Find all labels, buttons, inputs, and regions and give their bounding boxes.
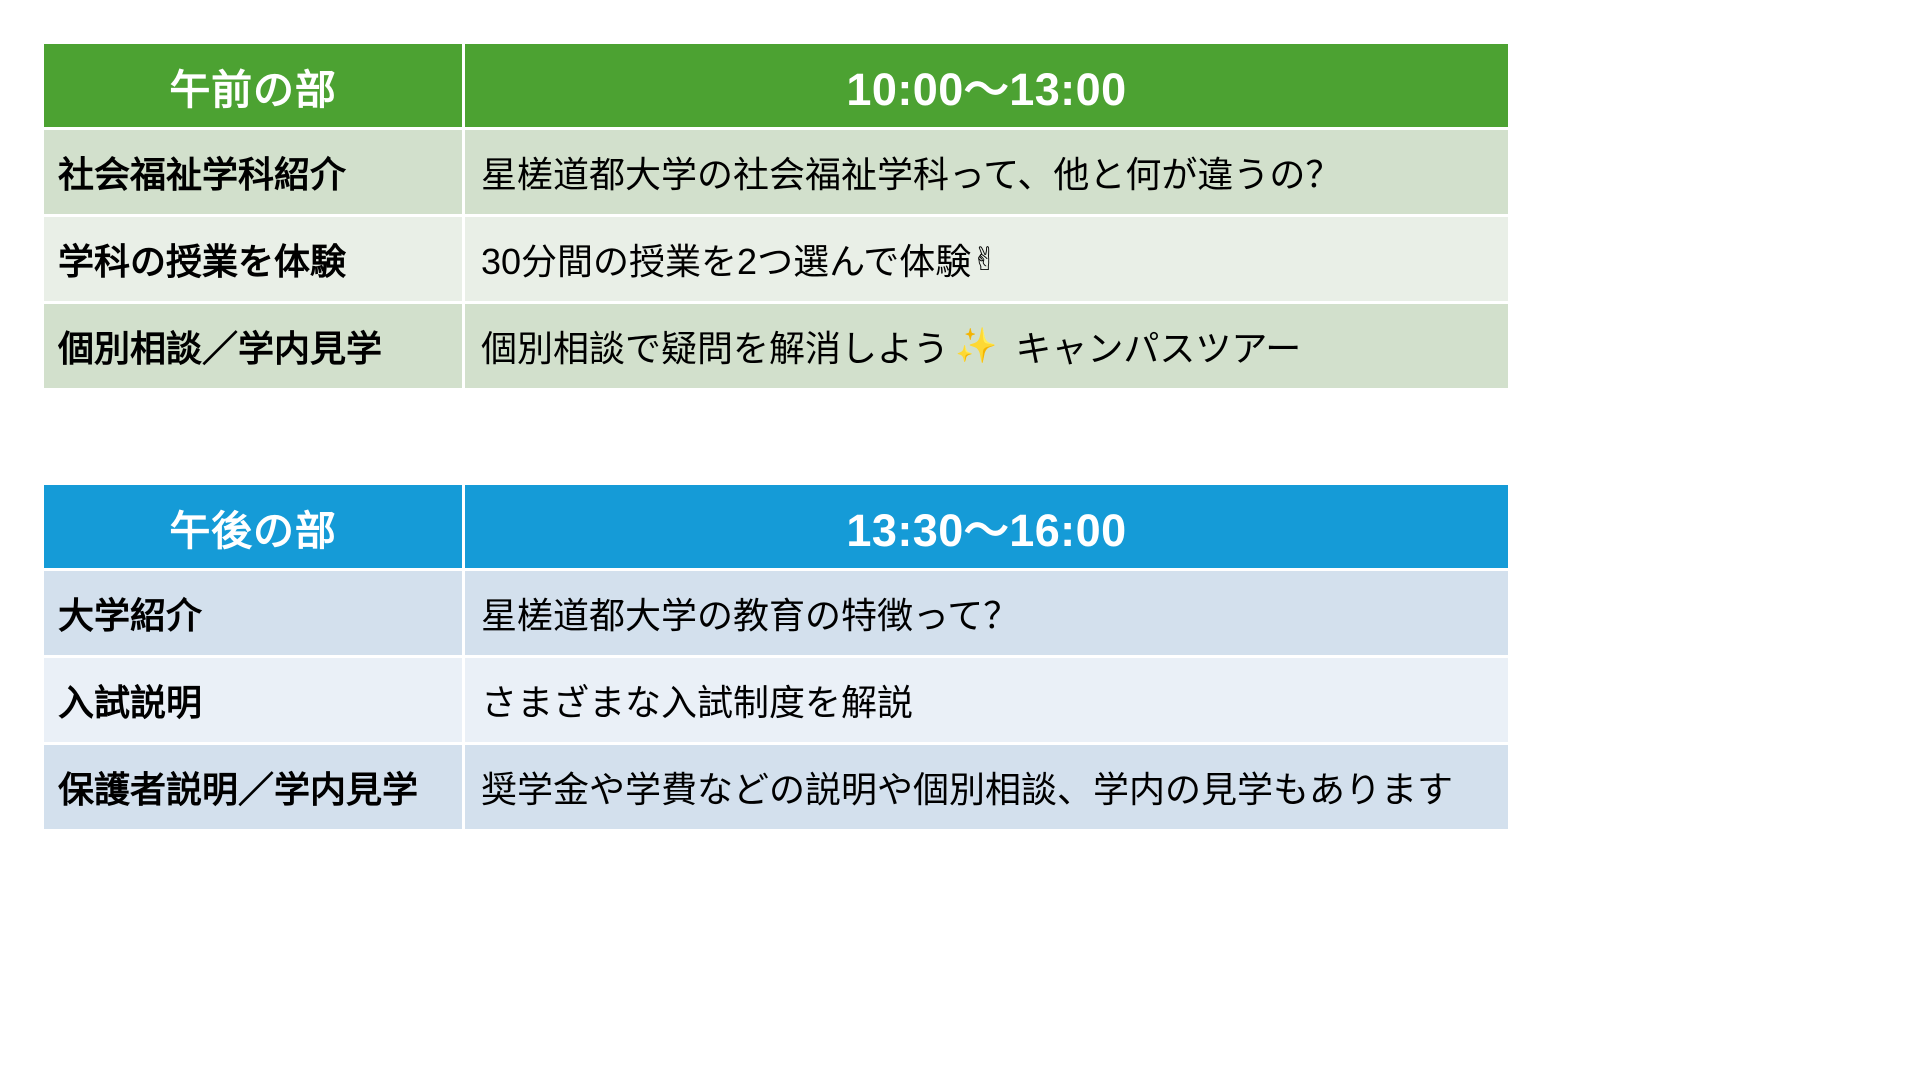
morning-session-title: 午前の部 bbox=[44, 44, 462, 127]
row-label: 入試説明 bbox=[44, 658, 462, 742]
afternoon-header-row: 午後の部 13:30～16:00 bbox=[44, 485, 1508, 568]
row-label: 社会福祉学科紹介 bbox=[44, 130, 462, 214]
row-label: 学科の授業を体験 bbox=[44, 217, 462, 301]
morning-session-time: 10:00～13:00 bbox=[465, 44, 1508, 127]
row-detail-text: 星槎道都大学の社会福祉学科って、他と何が違うの？ bbox=[481, 146, 1341, 198]
sparkles-icon: ✨ bbox=[955, 326, 997, 366]
table-row: 社会福祉学科紹介 星槎道都大学の社会福祉学科って、他と何が違うの？ bbox=[44, 130, 1508, 214]
morning-header-row: 午前の部 10:00～13:00 bbox=[44, 44, 1508, 127]
row-detail: 奨学金や学費などの説明や個別相談、学内の見学もあります bbox=[465, 745, 1508, 829]
table-row: 保護者説明／学内見学 奨学金や学費などの説明や個別相談、学内の見学もあります bbox=[44, 745, 1508, 829]
row-detail: 星槎道都大学の社会福祉学科って、他と何が違うの？ bbox=[465, 130, 1508, 214]
row-detail-suffix: キャンパスツアー bbox=[1015, 320, 1301, 372]
afternoon-session-table: 午後の部 13:30～16:00 大学紹介 星槎道都大学の教育の特徴って？ 入試… bbox=[44, 485, 1508, 829]
victory-hand-icon: ✌ bbox=[971, 243, 998, 275]
row-detail: さまざまな入試制度を解説 bbox=[465, 658, 1508, 742]
row-detail: 星槎道都大学の教育の特徴って？ bbox=[465, 571, 1508, 655]
table-row: 入試説明 さまざまな入試制度を解説 bbox=[44, 658, 1508, 742]
row-label: 大学紹介 bbox=[44, 571, 462, 655]
row-detail-text: さまざまな入試制度を解説 bbox=[481, 674, 913, 726]
table-row: 学科の授業を体験 30分間の授業を2つ選んで体験✌ bbox=[44, 217, 1508, 301]
afternoon-session-title: 午後の部 bbox=[44, 485, 462, 568]
row-label: 保護者説明／学内見学 bbox=[44, 745, 462, 829]
morning-session-table: 午前の部 10:00～13:00 社会福祉学科紹介 星槎道都大学の社会福祉学科っ… bbox=[44, 44, 1508, 388]
table-row: 大学紹介 星槎道都大学の教育の特徴って？ bbox=[44, 571, 1508, 655]
table-row: 個別相談／学内見学 個別相談で疑問を解消しよう✨キャンパスツアー bbox=[44, 304, 1508, 388]
row-detail-text: 星槎道都大学の教育の特徴って？ bbox=[481, 587, 1019, 639]
row-detail-text: 30分間の授業を2つ選んで体験 bbox=[481, 233, 971, 285]
row-label: 個別相談／学内見学 bbox=[44, 304, 462, 388]
slide-canvas: 午前の部 10:00～13:00 社会福祉学科紹介 星槎道都大学の社会福祉学科っ… bbox=[0, 0, 1920, 1080]
row-detail-text: 個別相談で疑問を解消しよう bbox=[481, 320, 949, 372]
afternoon-session-time: 13:30～16:00 bbox=[465, 485, 1508, 568]
row-detail: 30分間の授業を2つ選んで体験✌ bbox=[465, 217, 1508, 301]
row-detail: 個別相談で疑問を解消しよう✨キャンパスツアー bbox=[465, 304, 1508, 388]
row-detail-text: 奨学金や学費などの説明や個別相談、学内の見学もあります bbox=[481, 761, 1453, 813]
